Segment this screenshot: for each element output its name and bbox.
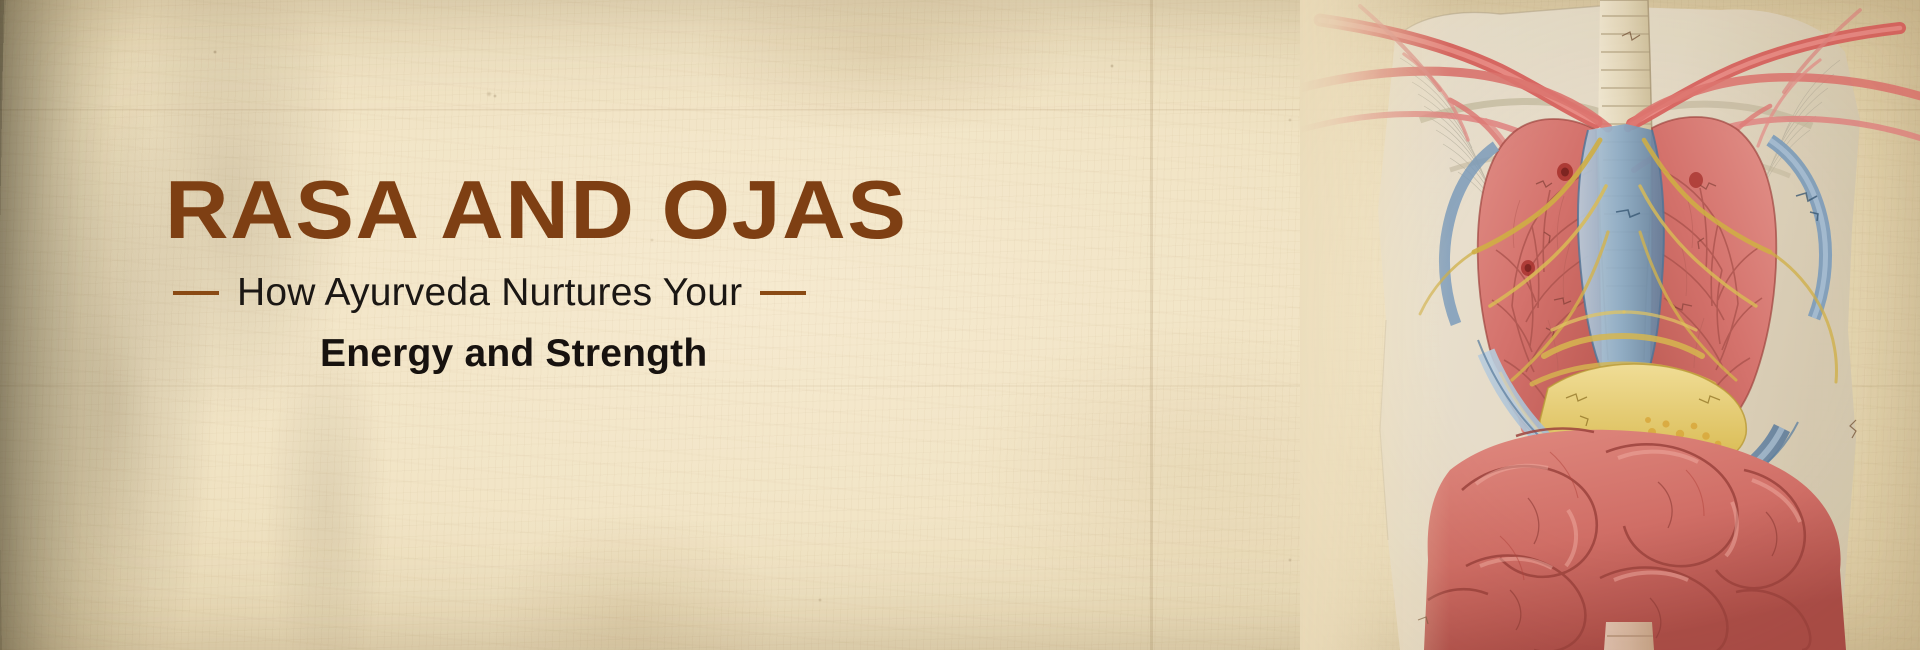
- left-rule-decoration: [173, 291, 219, 295]
- subtitle-line-2: Energy and Strength: [320, 334, 925, 375]
- page-title: RASA AND OJAS: [165, 168, 971, 251]
- subtitle-line-1: How Ayurveda Nurtures Your: [237, 273, 742, 314]
- anatomy-illustration: [1300, 0, 1920, 650]
- banner-text-block: RASA AND OJAS How Ayurveda Nurtures Your…: [165, 168, 925, 375]
- subtitle-row: How Ayurveda Nurtures Your: [173, 273, 925, 314]
- banner-root: RASA AND OJAS How Ayurveda Nurtures Your…: [0, 0, 1920, 650]
- right-rule-decoration: [760, 291, 806, 295]
- lower-spine-detail: [1604, 622, 1654, 650]
